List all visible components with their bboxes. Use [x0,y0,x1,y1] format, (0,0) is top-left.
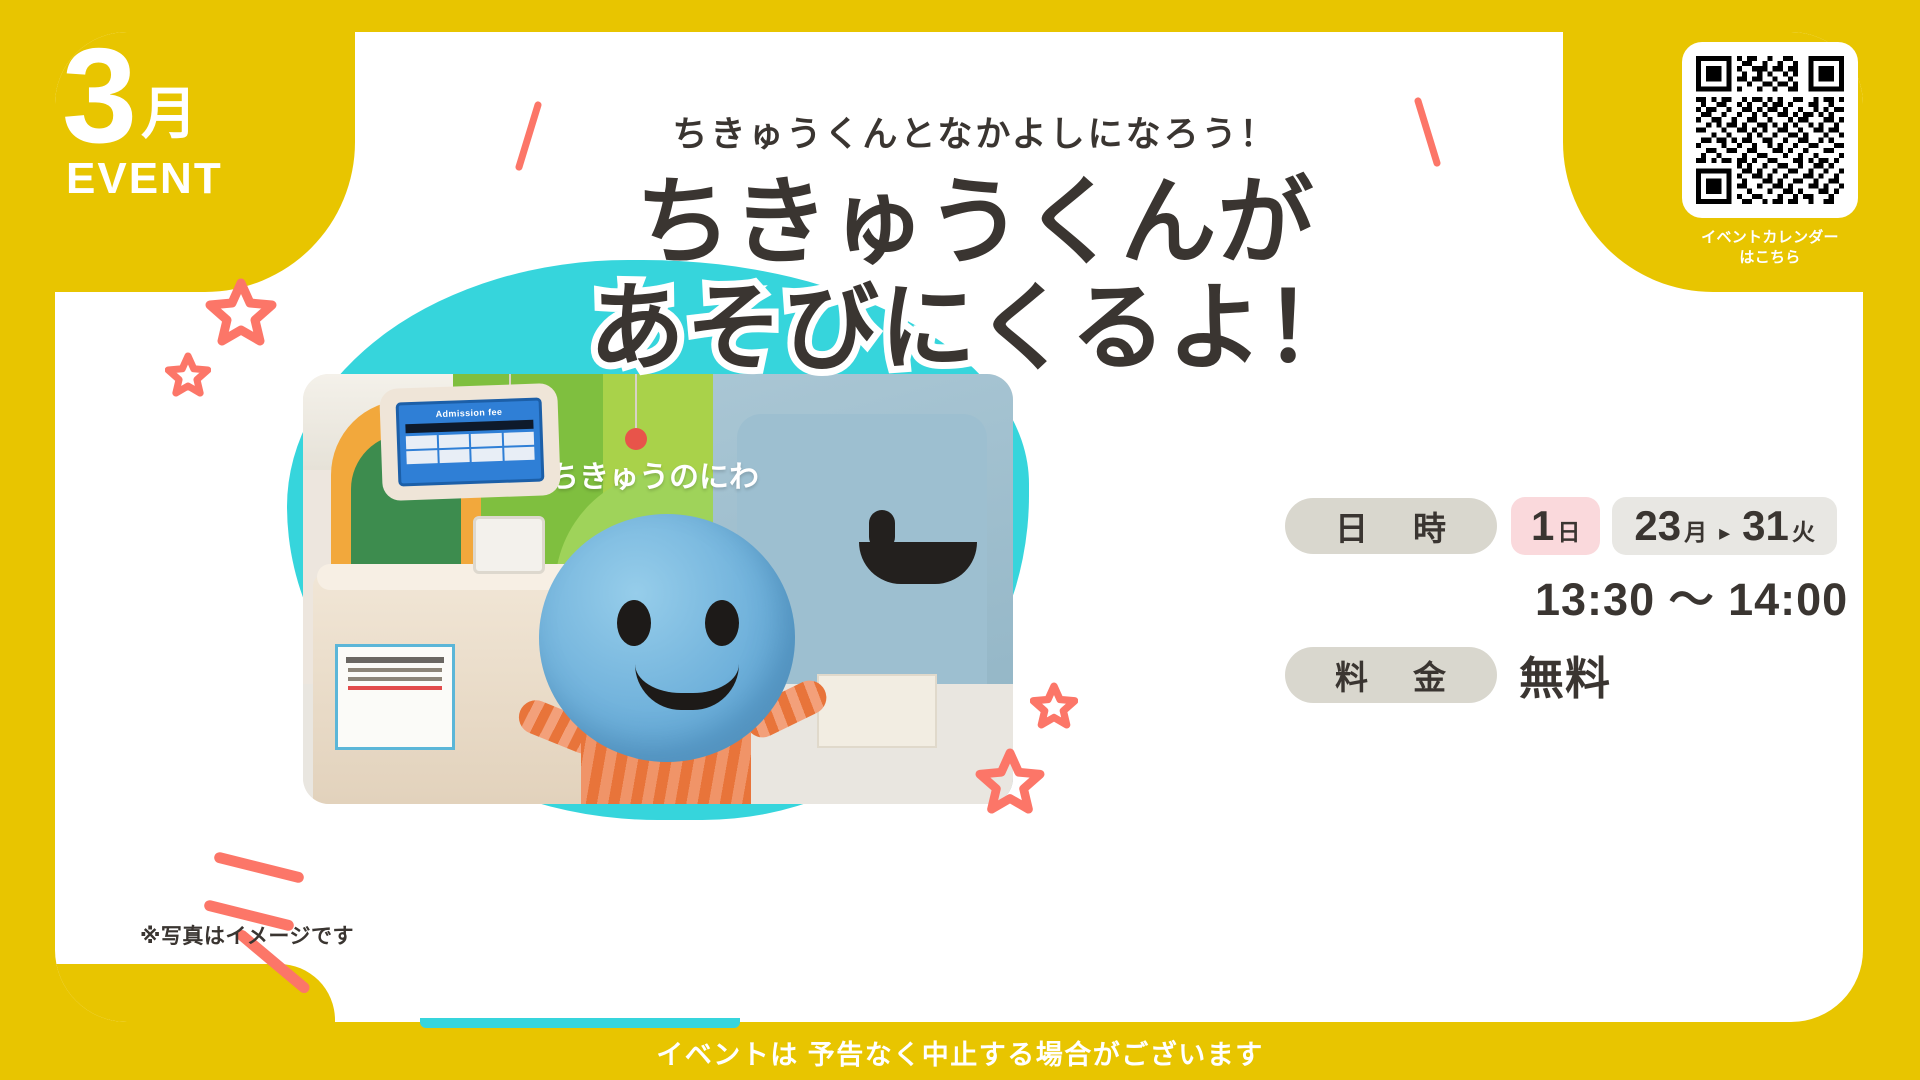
photo-disclaimer: ※写真はイメージです [140,920,354,950]
date-range-badge: 23 月 ▸ 31 火 [1612,497,1836,555]
range-end-unit: 火 [1792,513,1815,547]
qr-caption: イベントカレンダー はこちら [1682,228,1858,269]
star-decoration-right-small [1030,682,1078,734]
qr-code-icon[interactable] [1696,56,1844,204]
time-row: 13:30 ～ 14:00 [1535,563,1863,628]
speed-lines-decoration [195,852,335,982]
fee-row: 料 金 無料 [1285,642,1863,707]
admission-fee-strip [405,420,533,433]
fee-label-pill: 料 金 [1285,647,1497,703]
mascot-eye-right [705,600,739,646]
admission-fee-grid [406,432,535,464]
fee-value: 無料 [1519,642,1611,707]
range-start-unit: 月 [1684,513,1707,547]
admission-fee-screen: Admission fee [396,397,545,486]
photo-notice-sign [335,644,455,750]
poster-title-line2: あそびにくるよ！ [525,278,1425,380]
footer-disclaimer: イベントは 予告なく中止する場合がございます [0,1033,1920,1072]
event-info-panel: 日 時 1 日 23 月 ▸ 31 火 13:30 ～ 14:00 [1285,497,1863,719]
event-photo: ちきゅうのにわ Admission fee [303,374,1013,804]
event-time: 13:30 ～ 14:00 [1535,574,1848,625]
admission-fee-sign: Admission fee [379,383,561,501]
range-end-number: 31 [1742,497,1789,555]
photo-scene: ちきゅうのにわ Admission fee [303,374,1013,804]
qr-code-block[interactable]: イベントカレンダー はこちら [1682,42,1858,269]
day-badge: 1 日 [1511,497,1600,555]
star-decoration-large [205,277,277,352]
photo-shelf [817,674,937,748]
subtitle-row: ちきゅうくんとなかよしになろう！ [525,92,1425,170]
range-start-number: 23 [1634,497,1681,555]
star-decoration-right-large [975,747,1045,820]
mascot-mouth [635,664,739,710]
slash-left-decoration [515,101,543,172]
range-arrow-icon: ▸ [1719,520,1730,546]
title-block: ちきゅうくんとなかよしになろう！ ちきゅうくんが あそびにくるよ！ [525,92,1425,380]
fee-label-char-a: 料 [1335,651,1369,699]
day-number: 1 [1531,497,1554,555]
hanging-line [635,374,637,430]
month-number: 3 [62,34,135,158]
qr-caption-line2: はこちら [1682,248,1858,268]
hanging-lamp [625,428,647,450]
event-poster: ちきゅうのにわ Admission fee [0,0,1920,1080]
qr-caption-line1: イベントカレンダー [1682,228,1858,248]
month-kanji: 月 [141,86,197,142]
qr-code-card[interactable] [1682,42,1858,218]
day-unit: 日 [1557,513,1580,547]
datetime-label-pill: 日 時 [1285,498,1497,554]
datetime-label-char-a: 日 [1335,502,1369,550]
datetime-label-char-b: 時 [1413,502,1447,550]
content-card: ちきゅうのにわ Admission fee [55,32,1863,1022]
admission-fee-title: Admission fee [399,406,539,421]
fee-label-char-b: 金 [1413,651,1447,699]
speed-line [213,851,305,884]
month-row: 3 月 [62,34,302,158]
poster-subtitle: ちきゅうくんとなかよしになろう！ [672,106,1277,157]
slash-right-decoration [1414,97,1442,168]
photo-hanging-text: ちきゅうのにわ [549,452,759,496]
mascot-eye-left [617,600,651,646]
mascot-chikyu-kun [521,514,811,804]
bottom-teal-accent [420,1018,740,1028]
mascot-head [539,514,795,762]
poster-title-line1: ちきゅうくんが [525,172,1425,274]
month-event-badge: 3 月 EVENT [62,34,302,234]
event-label: EVENT [66,154,302,204]
star-decoration-small [165,352,211,402]
datetime-row: 日 時 1 日 23 月 ▸ 31 火 [1285,497,1863,555]
